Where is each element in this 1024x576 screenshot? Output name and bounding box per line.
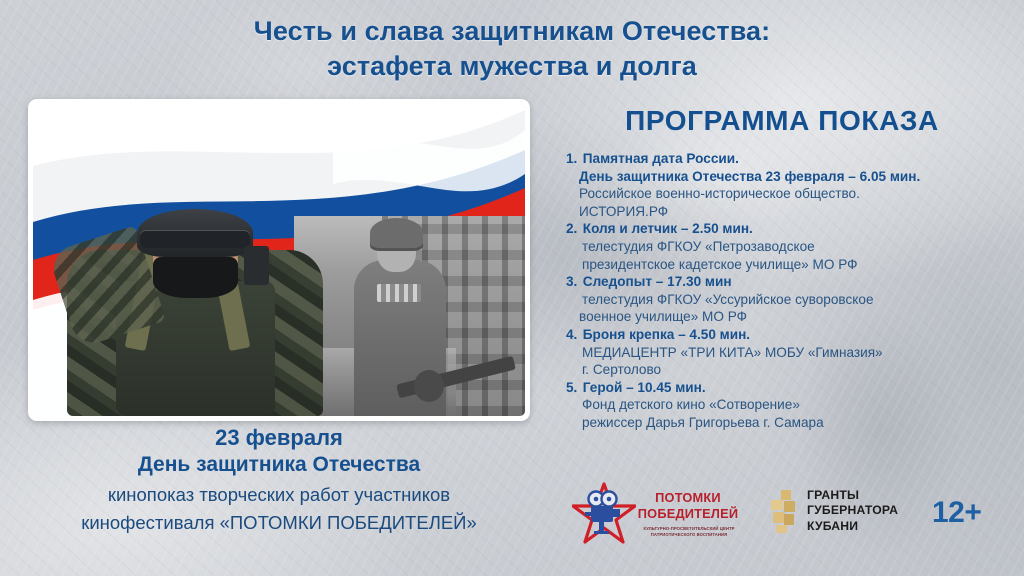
program-item-title-line-1: Следопыт – 17.30 мин xyxy=(583,274,732,289)
program-item-title: 3. Следопыт – 17.30 мин xyxy=(566,273,1006,291)
program-item-sub-line-2: режиссер Дарья Григорьева г. Самара xyxy=(566,414,1006,432)
caption-holiday: День защитника Отечества xyxy=(14,451,544,478)
logo-kuban-wordmark: ГРАНТЫ ГУБЕРНАТОРА КУБАНИ xyxy=(807,488,898,534)
program-item-sub-line-1: МЕДИАЦЕНТР «ТРИ КИТА» МОБУ «Гимназия» xyxy=(566,344,1006,362)
program-item-title-line-1: Памятная дата России. xyxy=(583,151,739,166)
program-item-title: 5. Герой – 10.45 мин. xyxy=(566,379,1006,397)
gun-drum-magazine xyxy=(414,370,444,402)
program-item-sub-line-1: Российское военно-историческое общество. xyxy=(566,185,1006,203)
program-item: 2. Коля и летчик – 2.50 мин. телестудия … xyxy=(566,220,1006,273)
caption-line-1: кинопоказ творческих работ участников xyxy=(14,481,544,509)
logo-potomki-line-1: ПОТОМКИ xyxy=(632,490,744,506)
logo-potomki-subtitle: КУЛЬТУРНО-ПРОСВЕТИТЕЛЬСКИЙ ЦЕНТР ПАТРИОТ… xyxy=(630,526,748,538)
program-item-title-line-2: День защитника Отечества 23 февраля – 6.… xyxy=(566,168,1006,186)
program-item: 4. Броня крепка – 4.50 мин. МЕДИАЦЕНТР «… xyxy=(566,326,1006,379)
program-item-sub-line-1: телестудия ФГКОУ «Петрозаводское xyxy=(566,238,1006,256)
program-item-title-line-1: Коля и летчик – 2.50 мин. xyxy=(583,221,753,236)
red-star-film-camera-icon xyxy=(572,482,636,544)
logo-kuban-line-1: ГРАНТЫ xyxy=(807,488,898,503)
soldier-goggles xyxy=(140,230,250,247)
modern-soldier-photo xyxy=(43,198,348,416)
logo-kuban-line-3: КУБАНИ xyxy=(807,519,898,534)
program-item-sub-line-2: президентское кадетское училище» МО РФ xyxy=(566,256,1006,274)
program-item-title: 2. Коля и летчик – 2.50 мин. xyxy=(566,220,1006,238)
program-item: 1. Памятная дата России. День защитника … xyxy=(566,150,1006,220)
veteran-medals xyxy=(377,284,421,302)
program-item-number: 5. xyxy=(566,379,579,397)
kuban-grain-mark-icon xyxy=(767,488,801,534)
program-item-title: 1. Памятная дата России. xyxy=(566,150,1006,168)
program-item-sub-line-2: ИСТОРИЯ.РФ xyxy=(566,203,1006,221)
program-item-sub-line-2: военное училище» МО РФ xyxy=(566,308,1006,326)
logo-potomki-line-2: ПОБЕДИТЕЛЕЙ xyxy=(632,506,744,522)
program-item-title-line-1: Броня крепка – 4.50 мин. xyxy=(583,327,750,342)
program-item-sub-line-1: телестудия ФГКОУ «Уссурийское суворовско… xyxy=(566,291,1006,309)
program-item-number: 3. xyxy=(566,273,579,291)
veteran-helmet xyxy=(370,218,423,248)
program-item: 3. Следопыт – 17.30 мин телестудия ФГКОУ… xyxy=(566,273,1006,326)
helmet-camera xyxy=(244,246,268,285)
logo-potomki-pobediteley: ПОТОМКИ ПОБЕДИТЕЛЕЙ КУЛЬТУРНО-ПРОСВЕТИТЕ… xyxy=(572,482,744,546)
caption-line-2: кинофестиваля «ПОТОМКИ ПОБЕДИТЕЛЕЙ» xyxy=(14,509,544,537)
caption-date: 23 февраля xyxy=(14,424,544,451)
program-heading: ПРОГРАММА ПОКАЗА xyxy=(556,105,1008,137)
program-item-number: 1. xyxy=(566,150,579,168)
program-item-title: 4. Броня крепка – 4.50 мин. xyxy=(566,326,1006,344)
program-item-number: 4. xyxy=(566,326,579,344)
poster-canvas: Честь и слава защитникам Отечества: эста… xyxy=(0,0,1024,576)
program-item-number: 2. xyxy=(566,220,579,238)
photo-caption: 23 февраля День защитника Отечества кино… xyxy=(14,424,544,537)
age-rating-badge: 12+ xyxy=(932,496,981,530)
page-title: Честь и слава защитникам Отечества: эста… xyxy=(0,14,1024,84)
program-item-sub-line-2: г. Сертолово xyxy=(566,361,1006,379)
title-line-1: Честь и слава защитникам Отечества: xyxy=(254,16,771,46)
program-list: 1. Памятная дата России. День защитника … xyxy=(566,150,1006,432)
logo-potomki-wordmark: ПОТОМКИ ПОБЕДИТЕЛЕЙ xyxy=(632,490,744,522)
title-line-2: эстафета мужества и долга xyxy=(0,49,1024,84)
hero-photo-frame xyxy=(28,99,530,421)
logo-potomki-subtitle-line-2: ПАТРИОТИЧЕСКОГО ВОСПИТАНИЯ xyxy=(630,532,748,538)
program-item-sub-line-1: Фонд детского кино «Сотворение» xyxy=(566,396,1006,414)
logo-granty-gubernatora-kubani: ГРАНТЫ ГУБЕРНАТОРА КУБАНИ xyxy=(767,486,907,544)
program-item: 5. Герой – 10.45 мин. Фонд детского кино… xyxy=(566,379,1006,432)
hero-photo xyxy=(33,104,525,416)
program-item-title-line-1: Герой – 10.45 мин. xyxy=(583,380,706,395)
logo-kuban-line-2: ГУБЕРНАТОРА xyxy=(807,503,898,518)
soldier-face-mask xyxy=(153,257,238,298)
